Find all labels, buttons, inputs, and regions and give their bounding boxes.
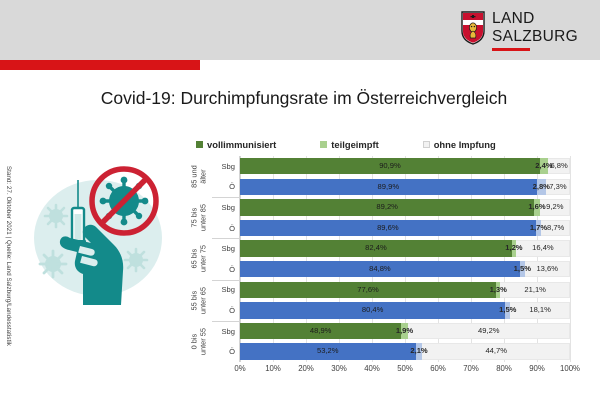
chart-legend: vollimmunisiert teilgeimpft ohne Impfung bbox=[190, 136, 520, 152]
region-labels: SbgÖ bbox=[212, 321, 239, 362]
value-label-ohne-impfung: 13,6% bbox=[529, 261, 565, 277]
bar-row[interactable]: 77,6%1,3%21,1% bbox=[240, 280, 570, 301]
value-label-ohne-impfung: 18,1% bbox=[522, 302, 558, 318]
value-label-vollimmunisiert: 48,9% bbox=[240, 323, 401, 339]
value-label-vollimmunisiert: 89,9% bbox=[240, 179, 537, 195]
category-label: 0 bis unter 55 bbox=[186, 321, 212, 362]
value-label-vollimmunisiert: 89,6% bbox=[240, 220, 536, 236]
x-axis-tick-label: 50% bbox=[397, 364, 413, 373]
hand-holding-syringe-no-virus-illustration bbox=[26, 152, 181, 310]
land-salzburg-logo: LAND SALZBURG bbox=[461, 11, 578, 51]
value-label-ohne-impfung: 44,7% bbox=[478, 343, 514, 359]
category-separator bbox=[212, 280, 240, 281]
legend-label-teilgeimpft: teilgeimpft bbox=[331, 139, 378, 150]
value-label-ohne-impfung: 7,3% bbox=[540, 179, 576, 195]
value-label-teilgeimpft: 1,3% bbox=[482, 282, 514, 298]
value-label-ohne-impfung: 16,4% bbox=[525, 240, 561, 256]
region-label: Ö bbox=[212, 177, 239, 198]
value-label-vollimmunisiert: 53,2% bbox=[240, 343, 416, 359]
region-label: Sbg bbox=[212, 156, 239, 177]
region-label: Sbg bbox=[212, 321, 239, 342]
legend-item-vollimmunisiert[interactable]: vollimmunisiert bbox=[196, 139, 276, 150]
region-labels: SbgÖ bbox=[212, 238, 239, 279]
value-label-teilgeimpft: 2,1% bbox=[403, 343, 435, 359]
x-axis-tick-label: 40% bbox=[364, 364, 380, 373]
x-axis: 0%10%20%30%40%50%60%70%80%90%100% bbox=[240, 362, 570, 376]
x-axis-tick-label: 100% bbox=[560, 364, 580, 373]
x-axis-tick-label: 0% bbox=[234, 364, 245, 373]
region-label: Sbg bbox=[212, 280, 239, 301]
x-axis-tick-label: 90% bbox=[529, 364, 545, 373]
bar-row[interactable]: 84,8%1,5%13,6% bbox=[240, 259, 570, 280]
logo-wordmark: LAND SALZBURG bbox=[492, 11, 578, 51]
logo-line-land: LAND bbox=[492, 11, 535, 27]
region-label: Ö bbox=[212, 259, 239, 280]
no-virus-prohibition-icon bbox=[92, 169, 156, 233]
category-separator bbox=[212, 238, 240, 239]
bar-row[interactable]: 80,4%1,5%18,1% bbox=[240, 300, 570, 321]
x-axis-tick-label: 30% bbox=[331, 364, 347, 373]
category-group: 0 bis unter 55SbgÖ bbox=[186, 321, 240, 362]
region-labels: SbgÖ bbox=[212, 197, 239, 238]
x-axis-tick-label: 60% bbox=[430, 364, 446, 373]
region-label: Sbg bbox=[212, 238, 239, 259]
value-label-vollimmunisiert: 80,4% bbox=[240, 302, 505, 318]
x-axis-tick-label: 20% bbox=[298, 364, 314, 373]
legend-label-ohne-impfung: ohne Impfung bbox=[434, 139, 496, 150]
x-axis-tick-label: 70% bbox=[463, 364, 479, 373]
value-label-ohne-impfung: 21,1% bbox=[517, 282, 553, 298]
value-label-ohne-impfung: 6,8% bbox=[541, 158, 577, 174]
stacked-bar-chart: 85 und älterSbgÖ75 bis unter 85SbgÖ65 bi… bbox=[186, 156, 576, 368]
legend-swatch-ohne-impfung bbox=[423, 141, 430, 148]
category-axis: 85 und älterSbgÖ75 bis unter 85SbgÖ65 bi… bbox=[186, 156, 240, 362]
region-labels: SbgÖ bbox=[212, 280, 239, 321]
region-label: Ö bbox=[212, 300, 239, 321]
region-label: Ö bbox=[212, 341, 239, 362]
logo-red-rule bbox=[492, 48, 530, 51]
region-label: Ö bbox=[212, 218, 239, 239]
value-label-teilgeimpft: 1,9% bbox=[389, 323, 421, 339]
salzburg-coat-of-arms-icon bbox=[461, 11, 485, 45]
value-label-ohne-impfung: 8,7% bbox=[538, 220, 574, 236]
value-label-teilgeimpft: 1,5% bbox=[492, 302, 524, 318]
value-label-ohne-impfung: 49,2% bbox=[471, 323, 507, 339]
category-separator bbox=[212, 321, 240, 322]
value-label-vollimmunisiert: 77,6% bbox=[240, 282, 496, 298]
legend-label-vollimmunisiert: vollimmunisiert bbox=[207, 139, 276, 150]
source-note: Stand: 27. Oktober 2021 | Quelle: Land S… bbox=[2, 166, 14, 386]
region-label: Sbg bbox=[212, 197, 239, 218]
logo-line-salzburg: SALZBURG bbox=[492, 29, 578, 45]
value-label-ohne-impfung: 9,2% bbox=[537, 199, 573, 215]
x-axis-tick-label: 80% bbox=[496, 364, 512, 373]
bar-row[interactable]: 53,2%2,1%44,7% bbox=[240, 341, 570, 362]
x-axis-tick-label: 10% bbox=[265, 364, 281, 373]
value-label-vollimmunisiert: 84,8% bbox=[240, 261, 520, 277]
header-red-accent-bar bbox=[0, 60, 200, 70]
region-labels: SbgÖ bbox=[212, 156, 239, 197]
bar-row[interactable]: 89,6%1,7%8,7% bbox=[240, 218, 570, 239]
bar-row[interactable]: 48,9%1,9%49,2% bbox=[240, 321, 570, 342]
legend-item-teilgeimpft[interactable]: teilgeimpft bbox=[320, 139, 378, 150]
value-label-vollimmunisiert: 89,2% bbox=[240, 199, 534, 215]
bar-row[interactable]: 82,4%1,2%16,4% bbox=[240, 238, 570, 259]
bar-row[interactable]: 89,2%1,6%9,2% bbox=[240, 197, 570, 218]
category-separator bbox=[212, 197, 240, 198]
legend-item-ohne-impfung[interactable]: ohne Impfung bbox=[423, 139, 496, 150]
bar-row[interactable]: 89,9%2,8%7,3% bbox=[240, 177, 570, 198]
plot-area: 90,9%2,4%6,8%89,9%2,8%7,3%89,2%1,6%9,2%8… bbox=[240, 156, 570, 362]
legend-swatch-teilgeimpft bbox=[320, 141, 327, 148]
value-label-vollimmunisiert: 90,9% bbox=[240, 158, 540, 174]
value-label-vollimmunisiert: 82,4% bbox=[240, 240, 512, 256]
chart-title: Covid-19: Durchimpfungsrate im Österreic… bbox=[26, 88, 582, 109]
bar-row[interactable]: 90,9%2,4%6,8% bbox=[240, 156, 570, 177]
